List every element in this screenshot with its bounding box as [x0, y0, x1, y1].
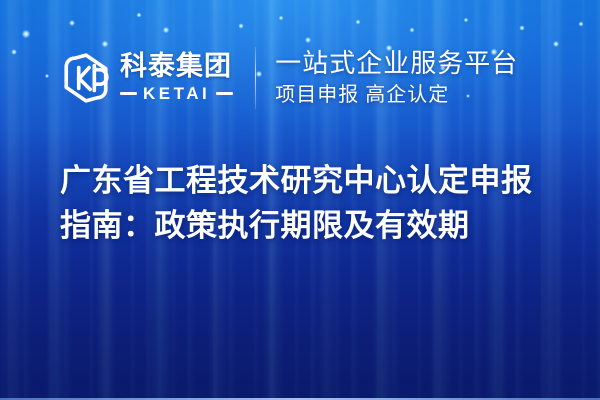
tagline-secondary: 项目申报 高企认定: [275, 83, 518, 107]
company-logo[interactable]: 科泰集团 KETAI: [60, 52, 233, 104]
logo-company-name-cn: 科泰集团: [120, 52, 233, 80]
headline-block: 广东省工程技术研究中心认定申报 指南：政策执行期限及有效期: [60, 158, 560, 248]
logo-company-name-en: KETAI: [143, 84, 210, 104]
header-vertical-divider: [255, 47, 256, 109]
tagline-block: 一站式企业服务平台 项目申报 高企认定: [275, 49, 518, 108]
logo-dash-right-icon: [216, 92, 233, 95]
tagline-primary: 一站式企业服务平台: [275, 49, 518, 79]
banner-header: 科泰集团 KETAI 一站式企业服务平台 项目申报 高企认定: [60, 42, 560, 114]
headline-line-2: 指南：政策执行期限及有效期: [60, 203, 560, 248]
ketai-diamond-kd-logo-icon: [60, 52, 112, 104]
logo-dash-left-icon: [120, 92, 137, 95]
headline-line-1: 广东省工程技术研究中心认定申报: [60, 158, 560, 203]
banner-image: 科泰集团 KETAI 一站式企业服务平台 项目申报 高企认定 广东省工程技术研究…: [0, 0, 600, 400]
logo-company-name-en-row: KETAI: [120, 84, 233, 104]
logo-wordmark: 科泰集团 KETAI: [120, 52, 233, 103]
